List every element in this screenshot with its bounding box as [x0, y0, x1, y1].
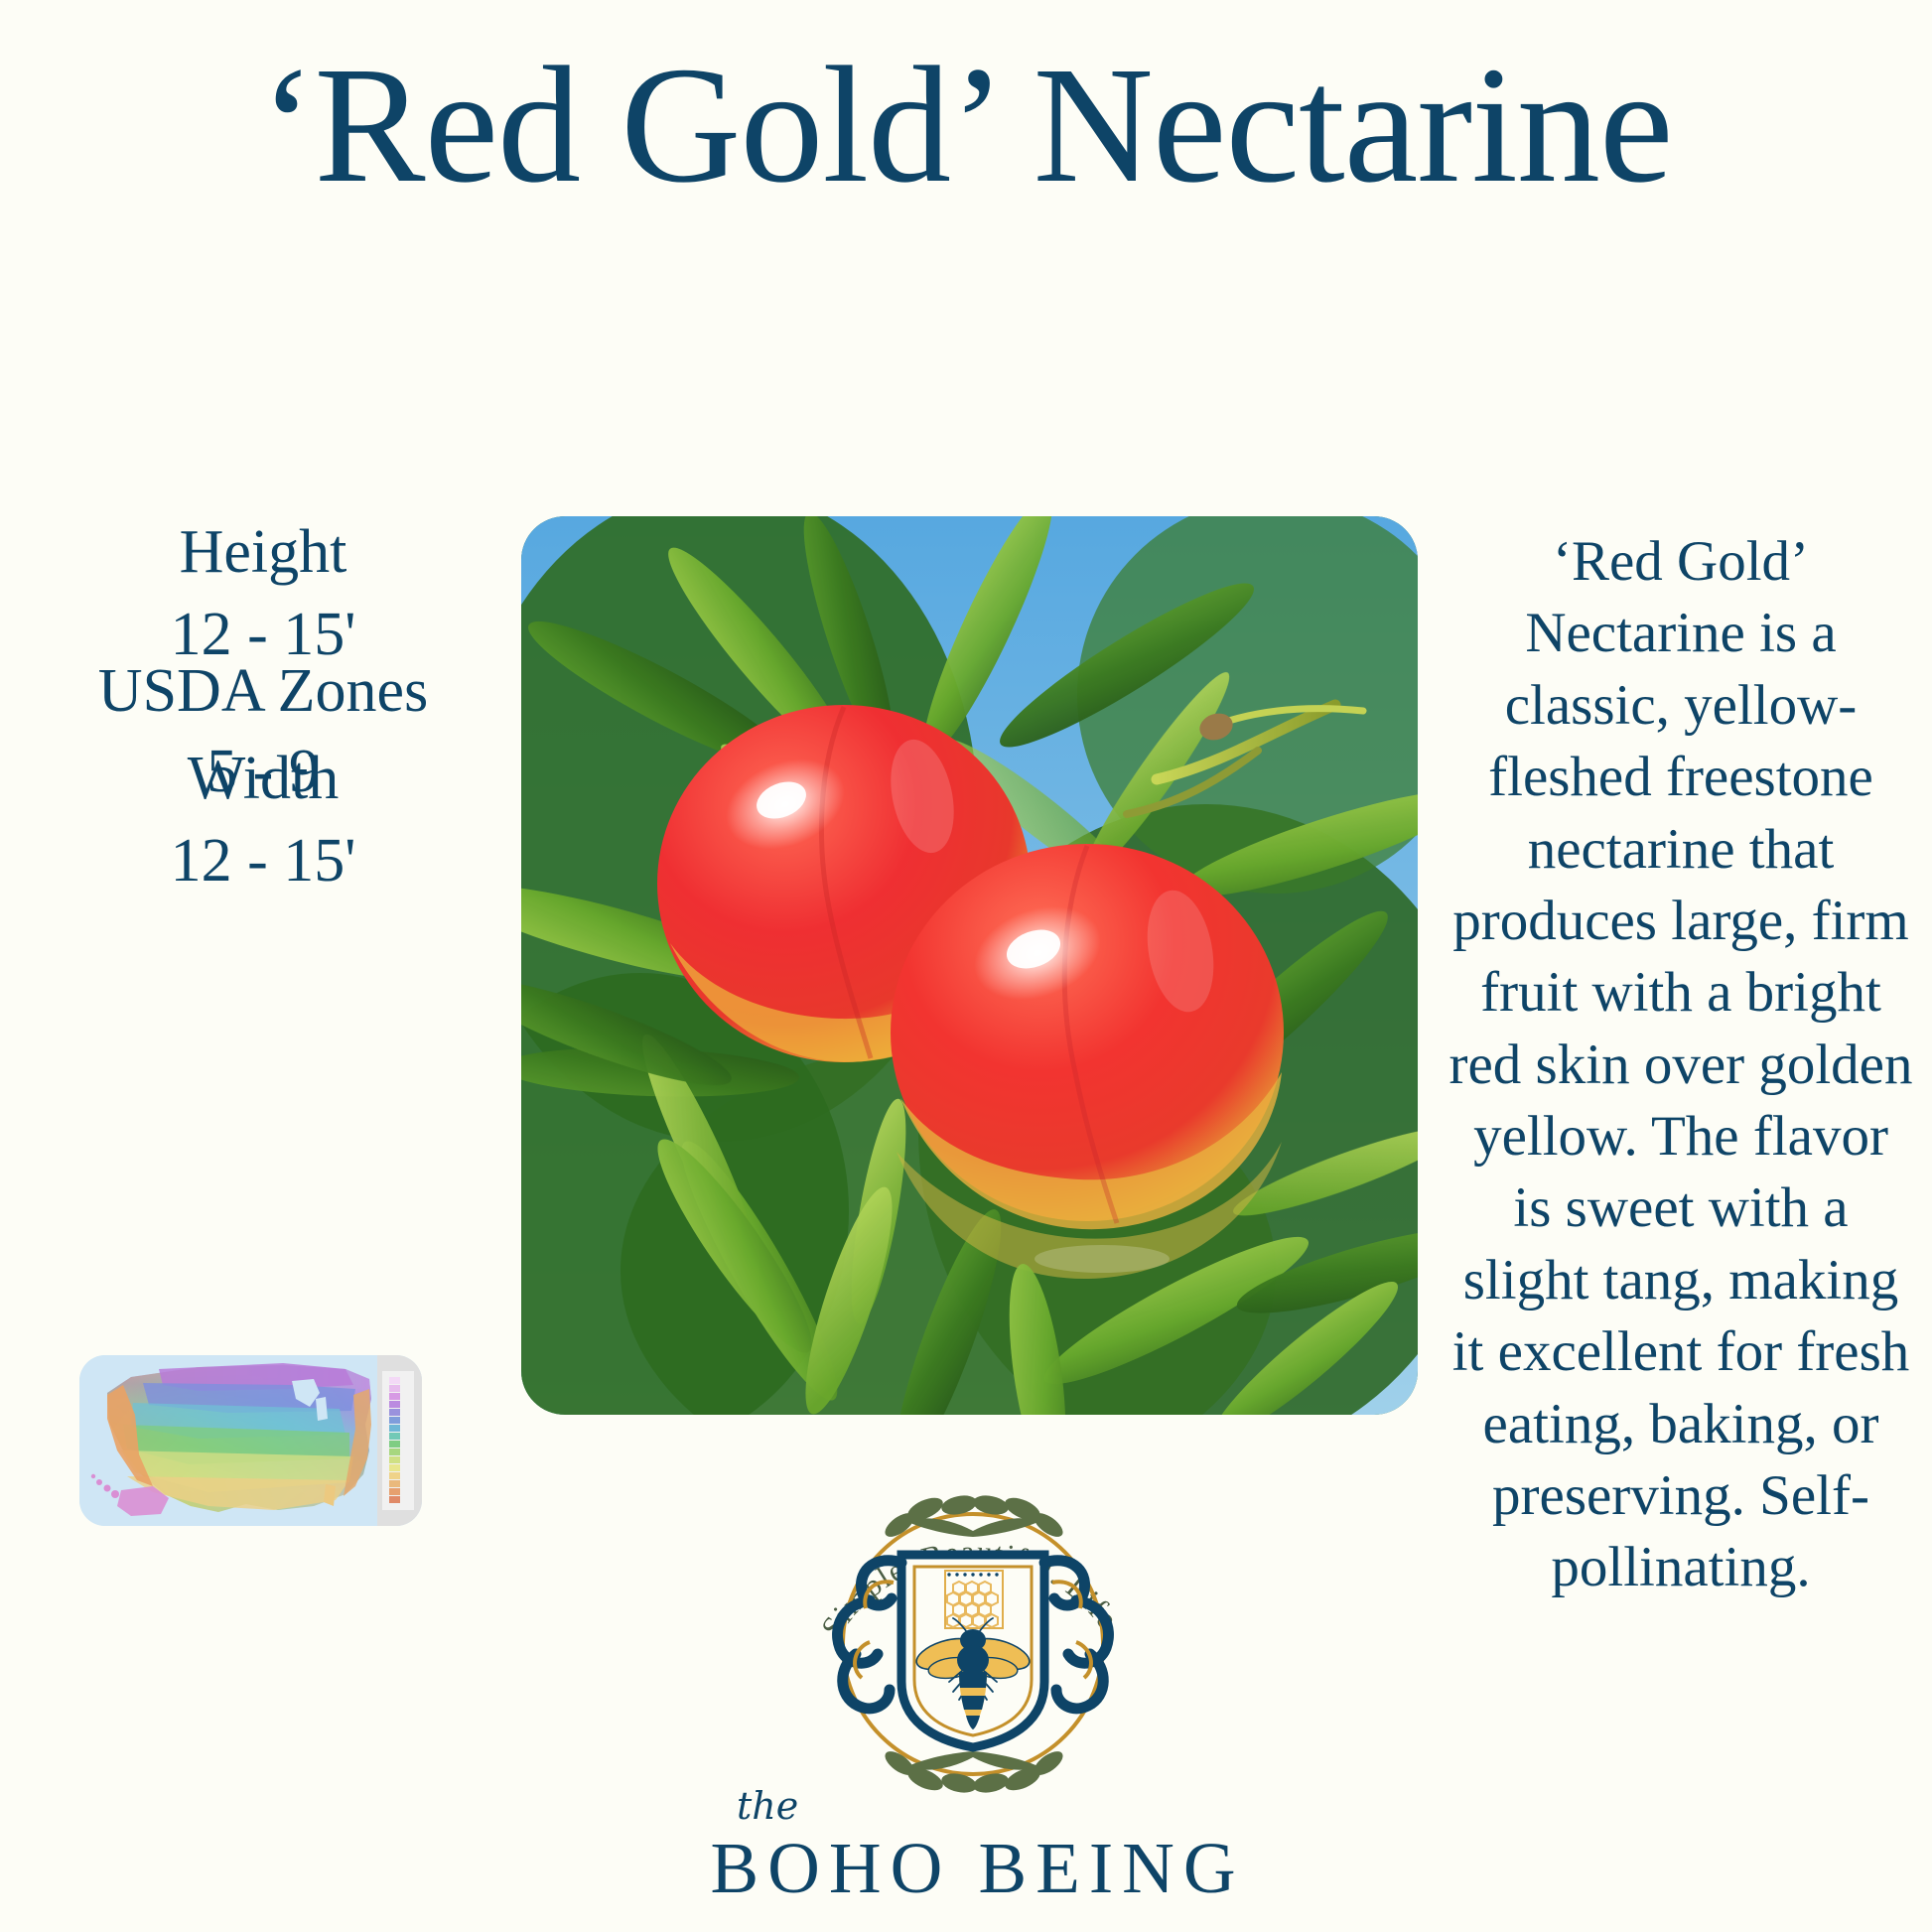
logo-brand-name: BOHO BEING: [695, 1831, 1251, 1907]
page-title: ‘Red Gold’ Nectarine: [0, 38, 1932, 212]
usda-zones-label: USDA Zones: [30, 655, 496, 728]
nectarine-photo: [521, 516, 1418, 1415]
spec-height-label: Height: [30, 516, 496, 589]
logo-wordmark: the BOHO BEING: [695, 1787, 1251, 1907]
usda-zones-value: 5 - 9: [30, 728, 496, 817]
plant-description: ‘Red Gold’ Nectarine is a classic, yello…: [1448, 526, 1914, 1604]
brand-logo[interactable]: Simple. Beautiful. Life.: [695, 1459, 1251, 1926]
usda-hardiness-zone-map-icon: [79, 1355, 422, 1526]
usda-zones-block: USDA Zones 5 - 9: [30, 655, 496, 817]
spec-width-value: 12 - 15': [30, 815, 496, 907]
logo-the-text: the: [737, 1787, 1251, 1825]
bee-honeycomb-crest-icon: Simple. Beautiful. Life.: [774, 1459, 1172, 1817]
